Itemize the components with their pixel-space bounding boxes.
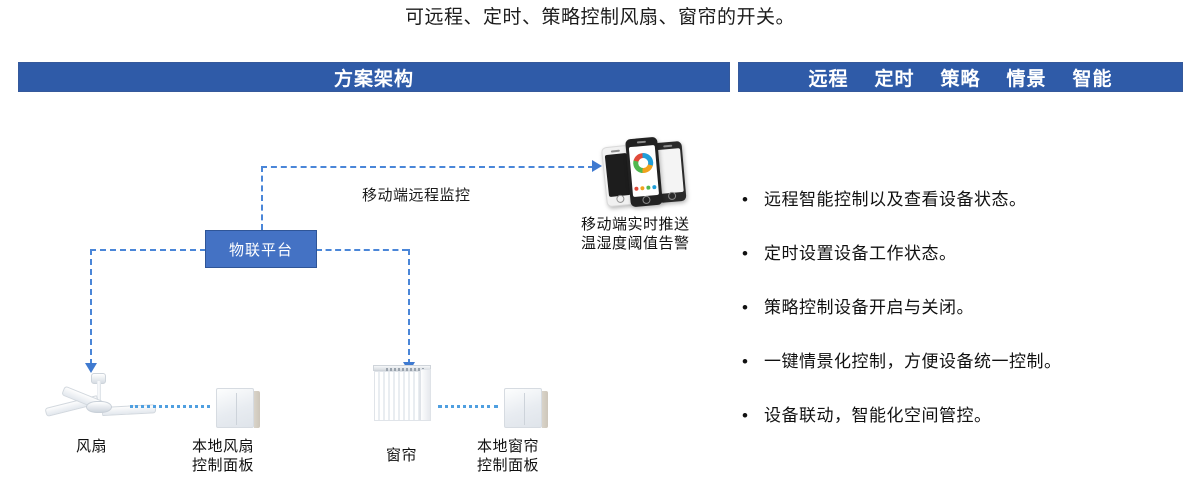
list-item: • 远程智能控制以及查看设备状态。 (742, 188, 1192, 212)
iot-platform-label: 物联平台 (229, 239, 293, 260)
arrow-to-phone-icon (592, 160, 602, 172)
connector-platform-to-curtain-vertical (408, 249, 410, 365)
panel-face (216, 388, 254, 428)
list-item: • 设备联动，智能化空间管控。 (742, 404, 1192, 428)
page-caption: 可远程、定时、策略控制风扇、窗帘的开关。 (0, 4, 1200, 32)
phone-speaker-icon (611, 150, 620, 153)
feature-word-scene: 情景 (1007, 64, 1047, 91)
curtain-icon (373, 365, 435, 425)
phone-home-button-icon (642, 196, 651, 205)
panel-seam (524, 393, 525, 425)
phones-caption-line2: 温湿度阈值告警 (581, 234, 690, 253)
feature-word-policy: 策略 (940, 64, 980, 91)
section-header-architecture-label: 方案架构 (334, 64, 414, 91)
app-dots-icon (634, 185, 656, 191)
panel-side (254, 391, 260, 428)
list-item-label: 设备联动，智能化空间管控。 (764, 404, 992, 428)
connector-platform-to-phone-vertical (261, 166, 263, 230)
phones-caption-line1: 移动端实时推送 (581, 215, 690, 234)
mobile-phones-icon (604, 136, 688, 210)
connector-label-remote-monitoring: 移动端远程监控 (362, 184, 471, 205)
connector-platform-to-phone-horizontal (261, 166, 594, 168)
connector-platform-to-curtain-horizontal (316, 249, 408, 251)
connector-platform-to-fan-horizontal (90, 249, 206, 251)
fan-panel-caption-line1: 本地风扇 (192, 437, 254, 456)
panel-seam (236, 393, 237, 425)
bullet-marker-icon: • (742, 350, 764, 374)
curtain-cloth-icon (374, 371, 420, 421)
section-header-features: 远程 定时 策略 情景 智能 (738, 62, 1183, 92)
feature-word-list: 远程 定时 策略 情景 智能 (808, 64, 1112, 91)
phone-speaker-icon (637, 141, 646, 144)
phone-home-button-icon (668, 192, 677, 201)
phone-home-button-icon (616, 194, 625, 203)
list-item: • 一键情景化控制，方便设备统一控制。 (742, 350, 1192, 374)
panel-side (542, 391, 548, 428)
feature-word-smart: 智能 (1073, 64, 1113, 91)
bullet-marker-icon: • (742, 188, 764, 212)
feature-word-remote: 远程 (808, 64, 848, 91)
list-item-label: 一键情景化控制，方便设备统一控制。 (764, 350, 1062, 374)
list-item: • 策略控制设备开启与关闭。 (742, 296, 1192, 320)
phone-center-screen (629, 145, 659, 197)
bullet-marker-icon: • (742, 242, 764, 266)
phone-center-icon (625, 137, 663, 208)
fan-hub-icon (86, 401, 112, 413)
fan-panel-caption-line2: 控制面板 (192, 456, 254, 475)
list-item-label: 策略控制设备开启与关闭。 (764, 296, 974, 320)
curtain-panel-caption-line1: 本地窗帘 (477, 437, 539, 456)
fan-panel-caption: 本地风扇 控制面板 (192, 437, 254, 475)
curtain-edge-icon (420, 369, 431, 421)
ceiling-fan-icon (42, 365, 158, 425)
iot-platform-node[interactable]: 物联平台 (205, 230, 317, 268)
link-fan-to-panel (130, 405, 210, 408)
list-item: • 定时设置设备工作状态。 (742, 242, 1192, 266)
link-curtain-to-panel (438, 405, 498, 408)
pie-chart-icon (632, 152, 654, 174)
feature-bullet-list: • 远程智能控制以及查看设备状态。 • 定时设置设备工作状态。 • 策略控制设备… (742, 188, 1192, 458)
list-item-label: 定时设置设备工作状态。 (764, 242, 957, 266)
bullet-marker-icon: • (742, 296, 764, 320)
feature-word-timer: 定时 (874, 64, 914, 91)
curtain-control-panel-icon (504, 388, 548, 428)
fan-control-panel-icon (216, 388, 260, 428)
curtain-panel-caption-line2: 控制面板 (477, 456, 539, 475)
phones-caption: 移动端实时推送 温湿度阈值告警 (581, 215, 690, 253)
section-header-architecture: 方案架构 (18, 62, 730, 92)
architecture-diagram: 物联平台 移动端远程监控 (0, 100, 730, 494)
list-item-label: 远程智能控制以及查看设备状态。 (764, 188, 1027, 212)
curtain-caption: 窗帘 (386, 446, 417, 465)
curtain-panel-caption: 本地窗帘 控制面板 (477, 437, 539, 475)
fan-caption: 风扇 (76, 437, 107, 456)
phone-speaker-icon (663, 145, 672, 148)
connector-platform-to-fan-vertical (90, 249, 92, 365)
bullet-marker-icon: • (742, 404, 764, 428)
panel-face (504, 388, 542, 428)
